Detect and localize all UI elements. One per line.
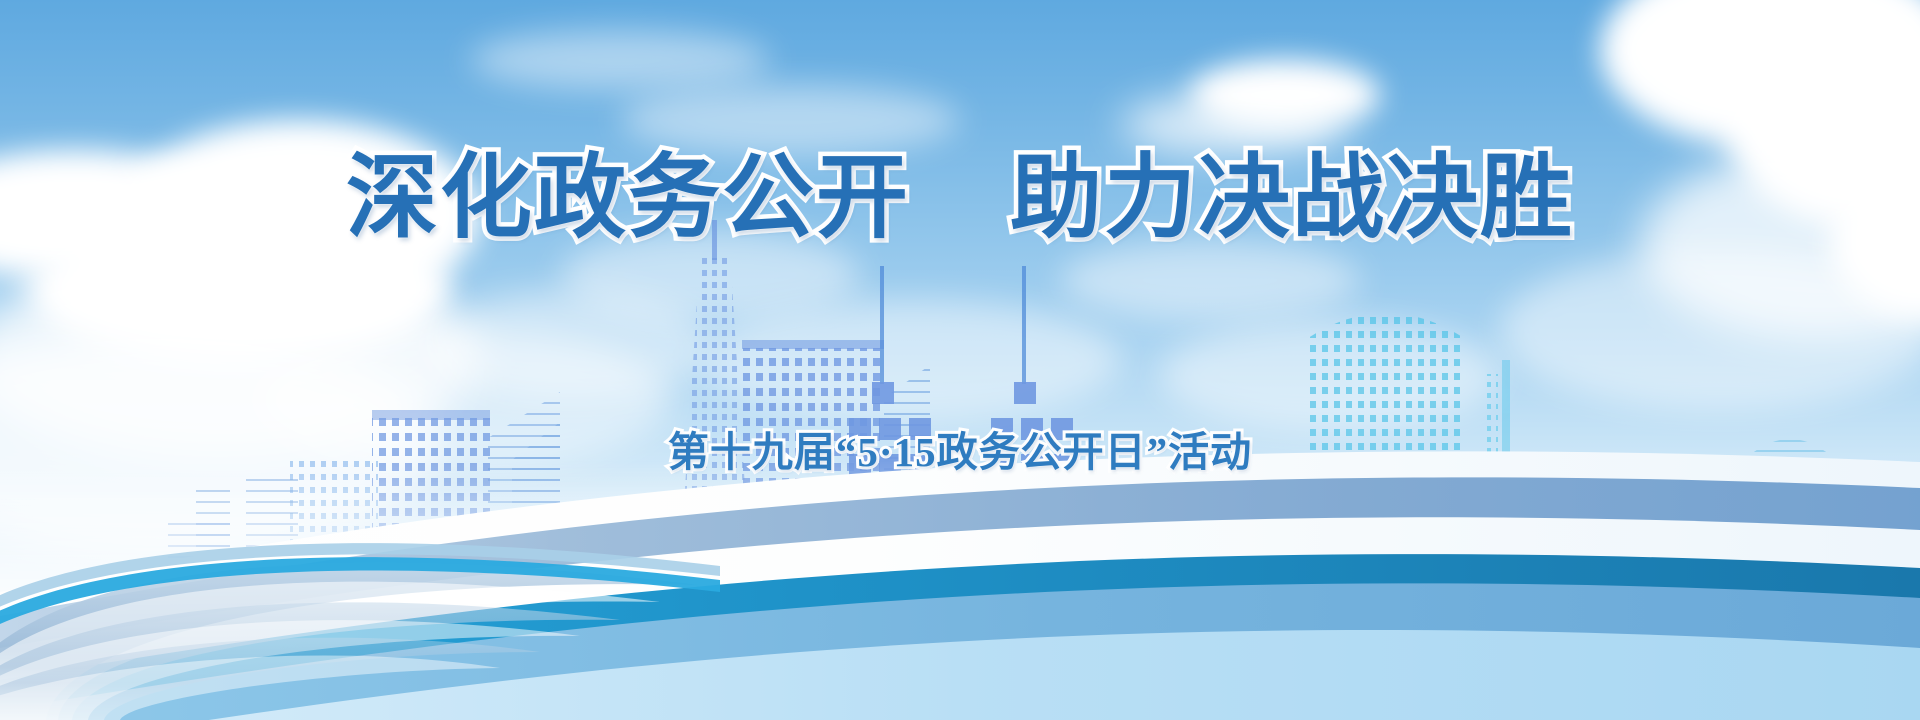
- banner-stage: 深化政务公开 助力决战决胜 第十九届“5·15政务公开日”活动: [0, 0, 1920, 720]
- page-subtitle: 第十九届“5·15政务公开日”活动: [668, 418, 1252, 478]
- subtitle-block: 第十九届“5·15政务公开日”活动: [0, 372, 1920, 478]
- page-title: 深化政务公开 助力决战决胜: [346, 150, 1574, 247]
- title-block: 深化政务公开 助力决战决胜: [0, 150, 1920, 247]
